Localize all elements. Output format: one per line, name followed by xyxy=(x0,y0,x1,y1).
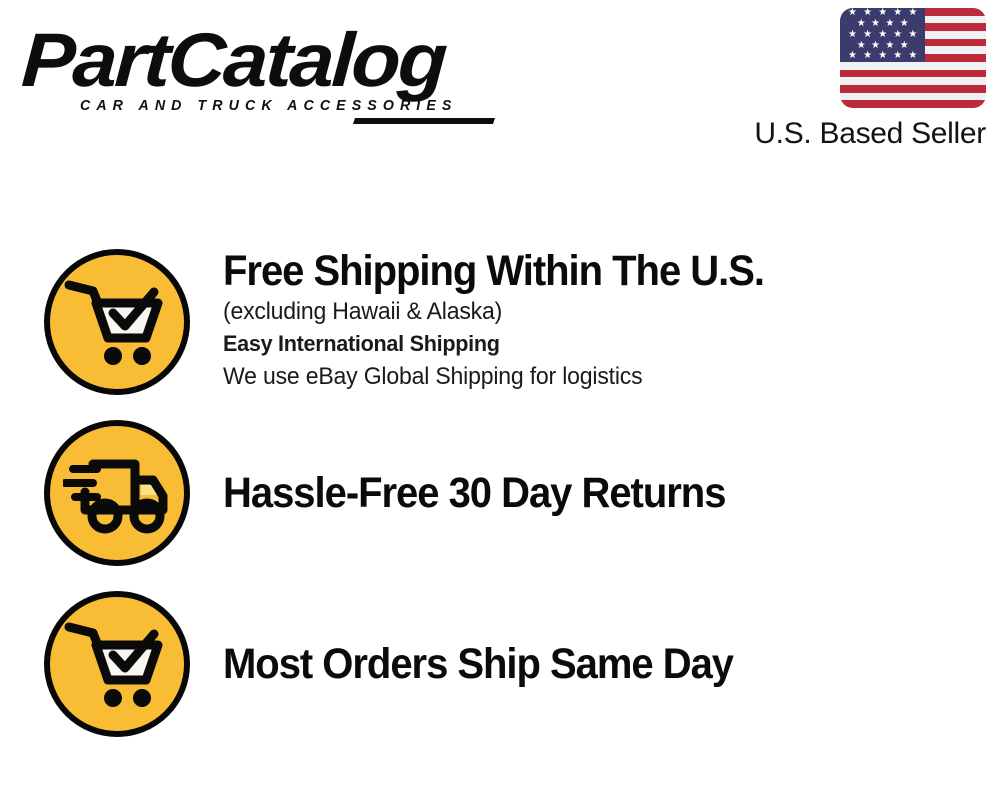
feature-row: Hassle-Free 30 Day Returns xyxy=(0,407,1000,578)
feature-headline: Hassle-Free 30 Day Returns xyxy=(223,469,946,517)
feature-note: (excluding Hawaii & Alaska) xyxy=(223,295,969,328)
us-based-seller-label: U.S. Based Seller xyxy=(686,117,986,151)
brand-logo-tagline: CAR AND TRUCK ACCESSORIES xyxy=(80,98,486,114)
feature-sub-text: We use eBay Global Shipping for logistic… xyxy=(223,360,969,393)
shopping-cart-check-icon xyxy=(44,591,190,737)
shopping-cart-check-icon xyxy=(44,249,190,395)
brand-logo: PartCatalog CAR AND TRUCK ACCESSORIES xyxy=(24,22,494,122)
feature-row: Free Shipping Within The U.S. (excluding… xyxy=(0,236,1000,407)
feature-text: Most Orders Ship Same Day xyxy=(223,640,1000,688)
feature-headline: Free Shipping Within The U.S. xyxy=(223,247,946,295)
us-flag-icon: ★★★★★ ★★★★ ★★★★★ ★★★★ ★★★★★ xyxy=(840,8,986,108)
feature-text: Hassle-Free 30 Day Returns xyxy=(223,469,1000,517)
feature-sub-heading: Easy International Shipping xyxy=(223,328,969,360)
promo-banner: PartCatalog CAR AND TRUCK ACCESSORIES ★★… xyxy=(0,0,1000,800)
delivery-truck-icon xyxy=(44,420,190,566)
brand-logo-swoosh xyxy=(353,118,495,124)
feature-row: Most Orders Ship Same Day xyxy=(0,578,1000,749)
feature-headline: Most Orders Ship Same Day xyxy=(223,640,946,688)
flag-canton: ★★★★★ ★★★★ ★★★★★ ★★★★ ★★★★★ xyxy=(840,8,925,62)
brand-logo-wordmark: PartCatalog xyxy=(20,22,523,100)
feature-list: Free Shipping Within The U.S. (excluding… xyxy=(0,236,1000,749)
us-based-seller-block: ★★★★★ ★★★★ ★★★★★ ★★★★ ★★★★★ U.S. Based S… xyxy=(686,8,986,151)
feature-text: Free Shipping Within The U.S. (excluding… xyxy=(223,247,1000,397)
